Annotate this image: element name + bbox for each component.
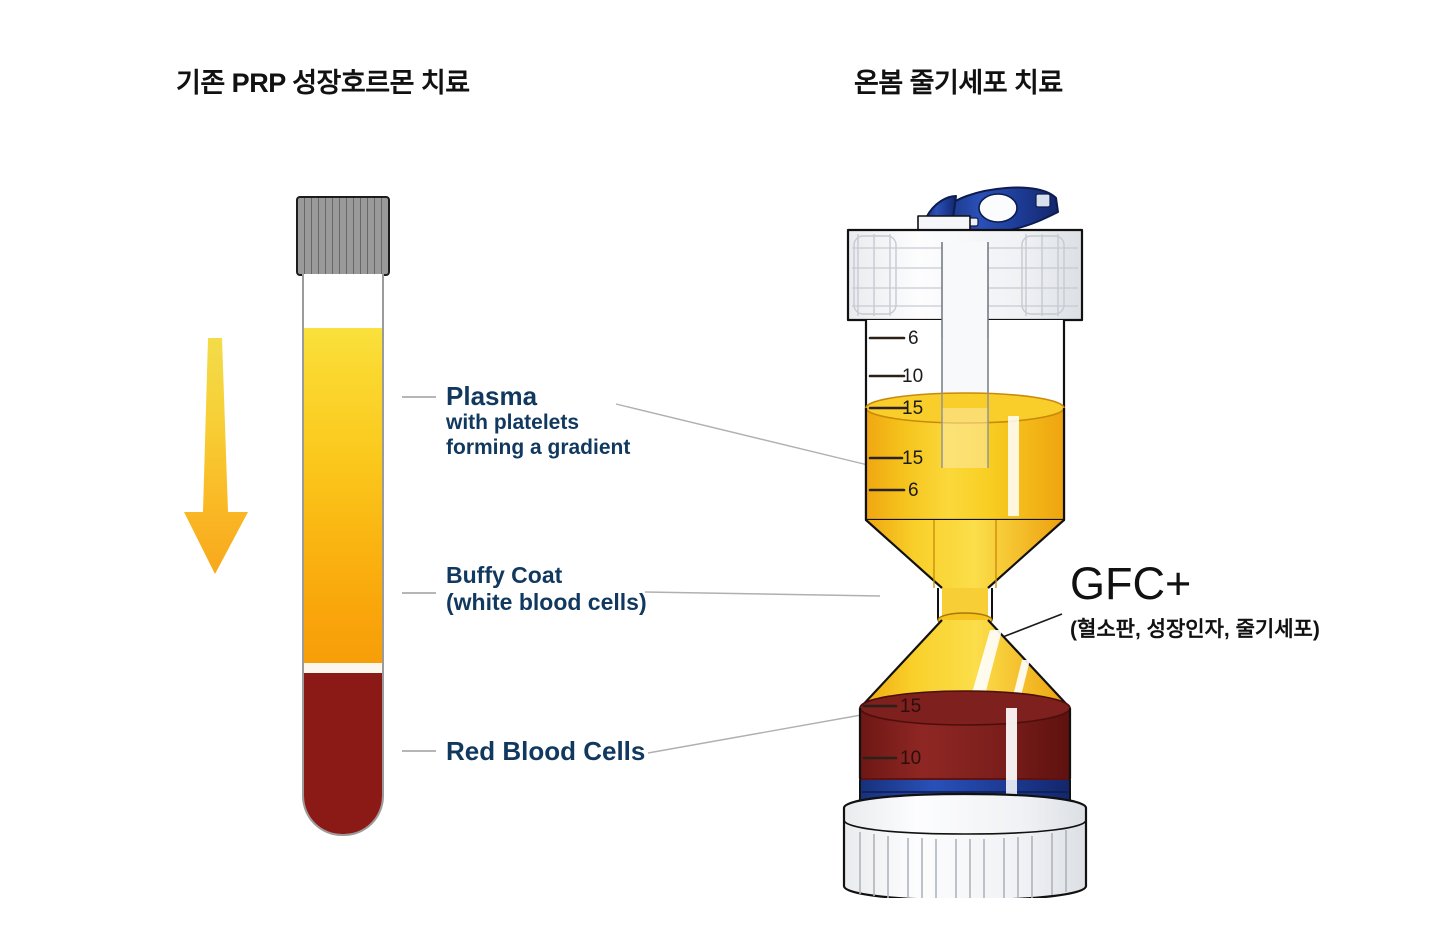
buffy-leader-tick (402, 592, 436, 594)
graduation-6-upper: 6 (908, 328, 919, 350)
graduation-10-redcell: 10 (900, 748, 921, 770)
red-blood-cell-layer (304, 673, 382, 834)
test-tube-body (302, 274, 384, 836)
buffy-coat-layer (304, 663, 382, 673)
label-plasma-line1: Plasma (446, 381, 630, 411)
label-plasma-line3: forming a gradient (446, 436, 630, 460)
downward-gradient-arrow (182, 336, 250, 576)
label-gfc-plus: GFC+ (혈소판, 성장인자, 줄기세포) (1070, 561, 1320, 643)
graduation-6-plasma-bottom: 6 (908, 480, 919, 502)
label-buffy-coat: Buffy Coat (white blood cells) (446, 562, 647, 615)
centrifuge-separation-tube: 6 10 15 15 6 15 10 (830, 168, 1100, 898)
diagram-canvas: 기존 PRP 성장호르몬 치료 온봄 줄기세포 치료 (0, 0, 1430, 933)
label-buffy-line2: (white blood cells) (446, 589, 647, 616)
label-red-blood-cells: Red Blood Cells (446, 736, 645, 766)
graduation-15-plasma-mid: 15 (902, 448, 923, 470)
left-panel-title: 기존 PRP 성장호르몬 치료 (176, 61, 470, 100)
plasma-layer (304, 328, 382, 663)
gfc-sub-text: (혈소판, 성장인자, 줄기세포) (1070, 613, 1320, 643)
right-panel-title: 온봄 줄기세포 치료 (854, 61, 1063, 100)
label-buffy-line1: Buffy Coat (446, 562, 647, 589)
label-rbc-line1: Red Blood Cells (446, 736, 645, 766)
rbc-leader-tick (402, 750, 436, 752)
graduation-10-upper: 10 (902, 366, 923, 388)
plasma-leader-tick (402, 396, 436, 398)
label-plasma: Plasma with platelets forming a gradient (446, 381, 630, 460)
label-plasma-line2: with platelets (446, 411, 630, 435)
graduation-15-redcell: 15 (900, 696, 921, 718)
test-tube-air-gap (304, 274, 382, 328)
graduation-15-plasma-top: 15 (902, 398, 923, 420)
test-tube-cap (296, 196, 390, 276)
prp-test-tube (296, 196, 392, 836)
gfc-main-text: GFC+ (1070, 561, 1320, 608)
